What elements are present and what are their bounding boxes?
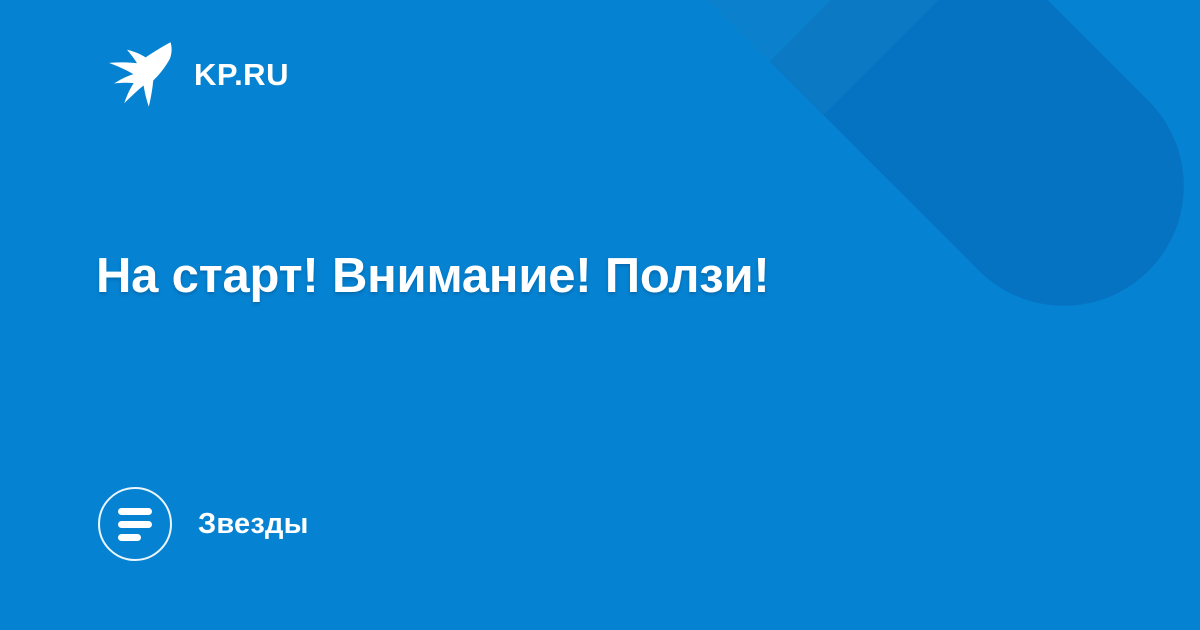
list-line-2 <box>118 521 152 528</box>
brand-logo[interactable]: KP.RU <box>104 38 289 110</box>
list-lines-icon[interactable] <box>98 487 172 561</box>
rubric[interactable]: Звезды <box>98 487 309 561</box>
brand-name: KP.RU <box>194 59 289 90</box>
headline: На старт! Внимание! Ползи! <box>96 248 1106 306</box>
share-card: KP.RU На старт! Внимание! Ползи! Звезды <box>0 0 1200 630</box>
list-line-3 <box>118 534 141 541</box>
rubric-label: Звезды <box>198 510 309 539</box>
swallow-bird-icon <box>104 38 176 110</box>
list-line-1 <box>118 508 152 515</box>
